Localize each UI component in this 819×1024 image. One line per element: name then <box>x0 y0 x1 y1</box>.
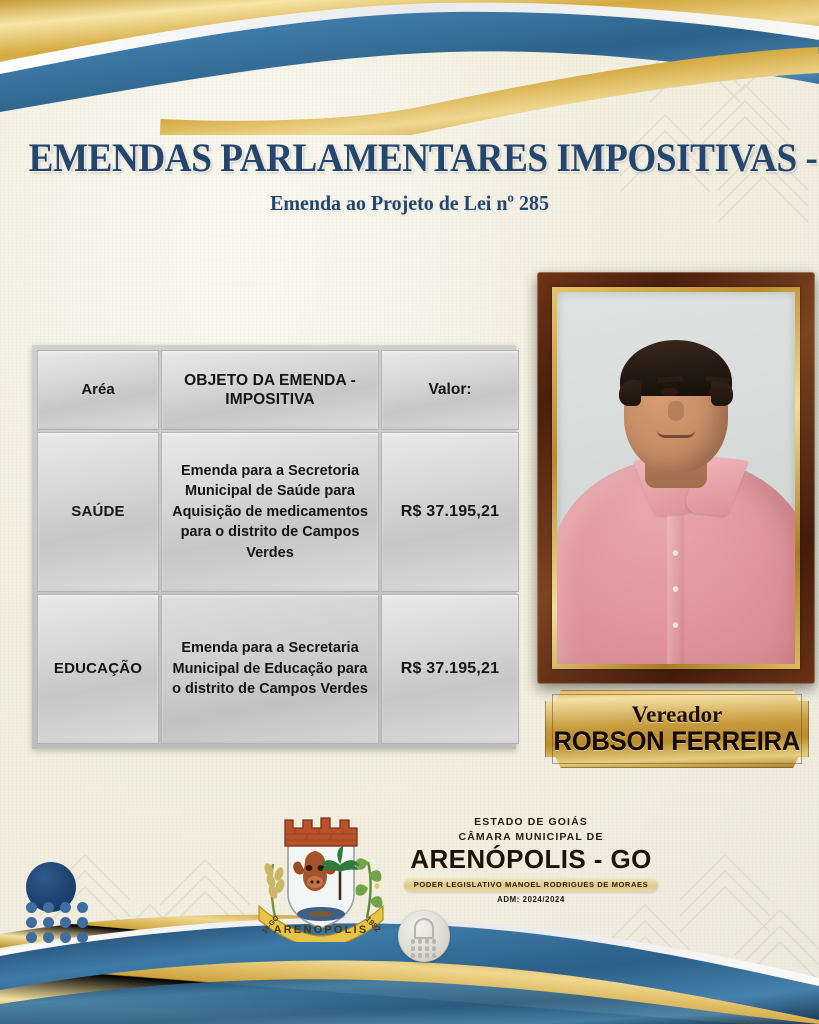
table-row: EDUCAÇÃO Emenda para a Secretaria Munici… <box>37 594 519 744</box>
column-header-value: Valor: <box>381 350 519 430</box>
row-area-educacao: EDUCAÇÃO <box>37 594 159 744</box>
row-object-educacao: Emenda para a Secretaria Municipal de Ed… <box>161 594 379 744</box>
row-value-educacao: R$ 37.195,21 <box>381 594 519 744</box>
row-object-saude: Emenda para a Secretoria Municipal de Sa… <box>161 432 379 592</box>
dot-logo-grid <box>26 902 90 943</box>
watermark-dome-icon <box>414 918 434 939</box>
row-area-saude: SAÚDE <box>37 432 159 592</box>
portrait-shirt-button <box>673 622 679 628</box>
footer-text-block: ESTADO DE GOIÁS CÂMARA MUNICIPAL DE AREN… <box>397 802 665 904</box>
poster-canvas: EMENDAS PARLAMENTARES IMPOSITIVAS - LOA … <box>0 0 819 1024</box>
sugarcane-icon <box>356 858 383 918</box>
portrait-nose <box>668 401 684 421</box>
emenda-table-container: Aréa OBJETO DA EMENDA - IMPOSITIVA Valor… <box>32 345 516 749</box>
portrait-shirt-button <box>673 586 679 592</box>
portrait-eye-right <box>709 388 726 396</box>
portrait-eye-left <box>661 388 678 396</box>
coat-of-arms-svg: ARENOPOLIS 14-GO 1982 <box>255 802 387 942</box>
portrait-gold-trim <box>552 287 800 669</box>
portrait-shirt-button <box>673 550 679 556</box>
table-row: SAÚDE Emenda para a Secretoria Municipal… <box>37 432 519 592</box>
portrait-frame <box>537 272 815 684</box>
footer-legislative-badge: PODER LEGISLATIVO MANOEL RODRIGUES DE MO… <box>404 878 658 892</box>
footer-state: ESTADO DE GOIÁS <box>397 815 665 830</box>
wheat-icon <box>263 862 286 917</box>
table-header-row: Aréa OBJETO DA EMENDA - IMPOSITIVA Valor… <box>37 350 519 430</box>
nameplate-role: Vereador <box>632 703 723 726</box>
top-ribbon-decoration <box>0 0 819 135</box>
row-value-saude: R$ 37.195,21 <box>381 432 519 592</box>
nameplate-inner: Vereador ROBSON FERREIRA <box>552 694 802 764</box>
portrait-mouth <box>657 430 695 438</box>
watermark-logo-badge <box>398 910 450 962</box>
footer-city: ARENÓPOLIS - GO <box>397 846 665 873</box>
footer-administration: ADM: 2024/2024 <box>397 895 665 904</box>
crown-icon <box>285 818 357 846</box>
column-header-object: OBJETO DA EMENDA - IMPOSITIVA <box>161 350 379 430</box>
column-header-area: Aréa <box>37 350 159 430</box>
emenda-table: Aréa OBJETO DA EMENDA - IMPOSITIVA Valor… <box>35 348 521 746</box>
footer-block: ARENOPOLIS 14-GO 1982 ESTADO DE GOIÁS CÂ… <box>255 802 675 952</box>
city-coat-of-arms: ARENOPOLIS 14-GO 1982 <box>255 802 387 942</box>
watermark-dots-icon <box>411 939 437 958</box>
nameplate: Vereador ROBSON FERREIRA <box>545 690 809 768</box>
nameplate-name: ROBSON FERREIRA <box>554 728 801 755</box>
footer-chamber: CÂMARA MUNICIPAL DE <box>397 830 665 845</box>
page-title: EMENDAS PARLAMENTARES IMPOSITIVAS - LOA <box>29 137 791 179</box>
decorative-dot-logo <box>12 862 104 958</box>
title-block: EMENDAS PARLAMENTARES IMPOSITIVAS - LOA … <box>0 137 819 216</box>
portrait-photo <box>557 292 795 664</box>
svg-text:ARENOPOLIS: ARENOPOLIS <box>274 924 369 936</box>
page-subtitle: Emenda ao Projeto de Lei nº 285 <box>20 191 798 216</box>
